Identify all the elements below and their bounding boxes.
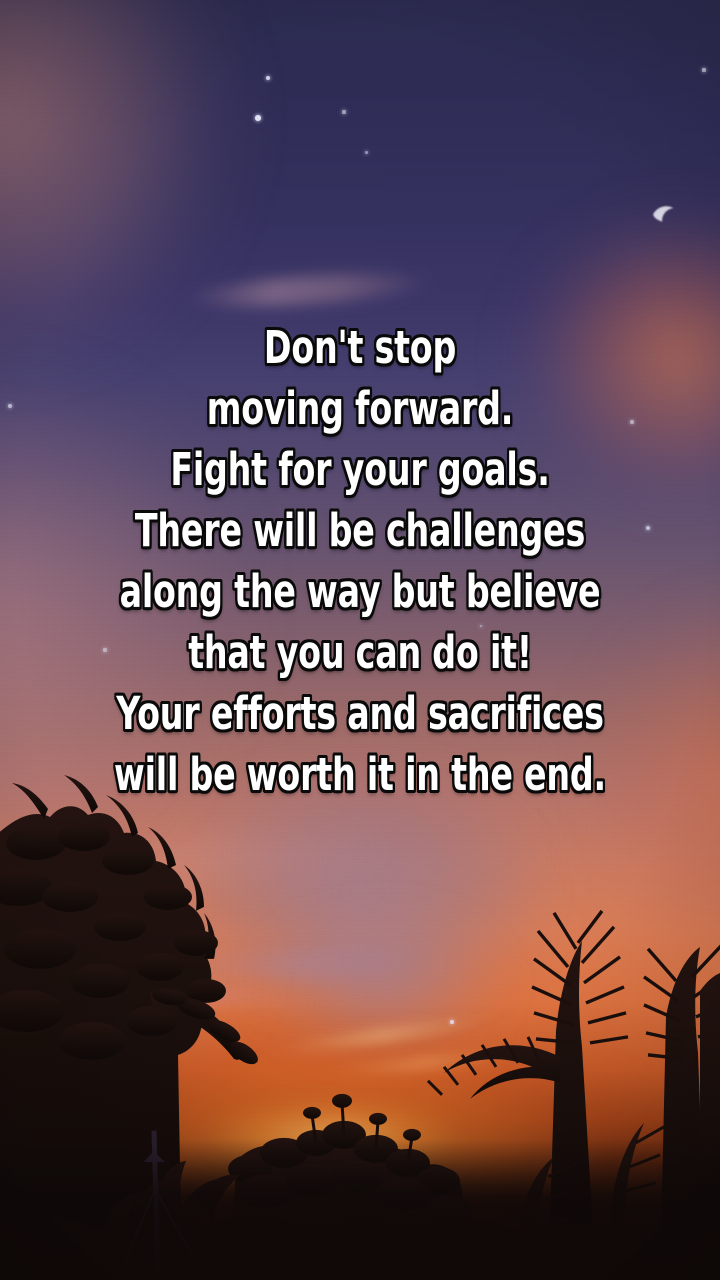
star-7	[103, 648, 106, 651]
foreground-shadow	[0, 1139, 720, 1280]
quote-poster: Don't stop moving forward. Fight for you…	[0, 0, 720, 1280]
star-8	[630, 420, 634, 424]
cloud-orange-upper-right	[446, 179, 720, 563]
star-4	[365, 151, 368, 154]
star-6	[8, 404, 12, 408]
star-2	[255, 115, 261, 121]
star-3	[342, 110, 345, 113]
star-5	[702, 68, 705, 71]
